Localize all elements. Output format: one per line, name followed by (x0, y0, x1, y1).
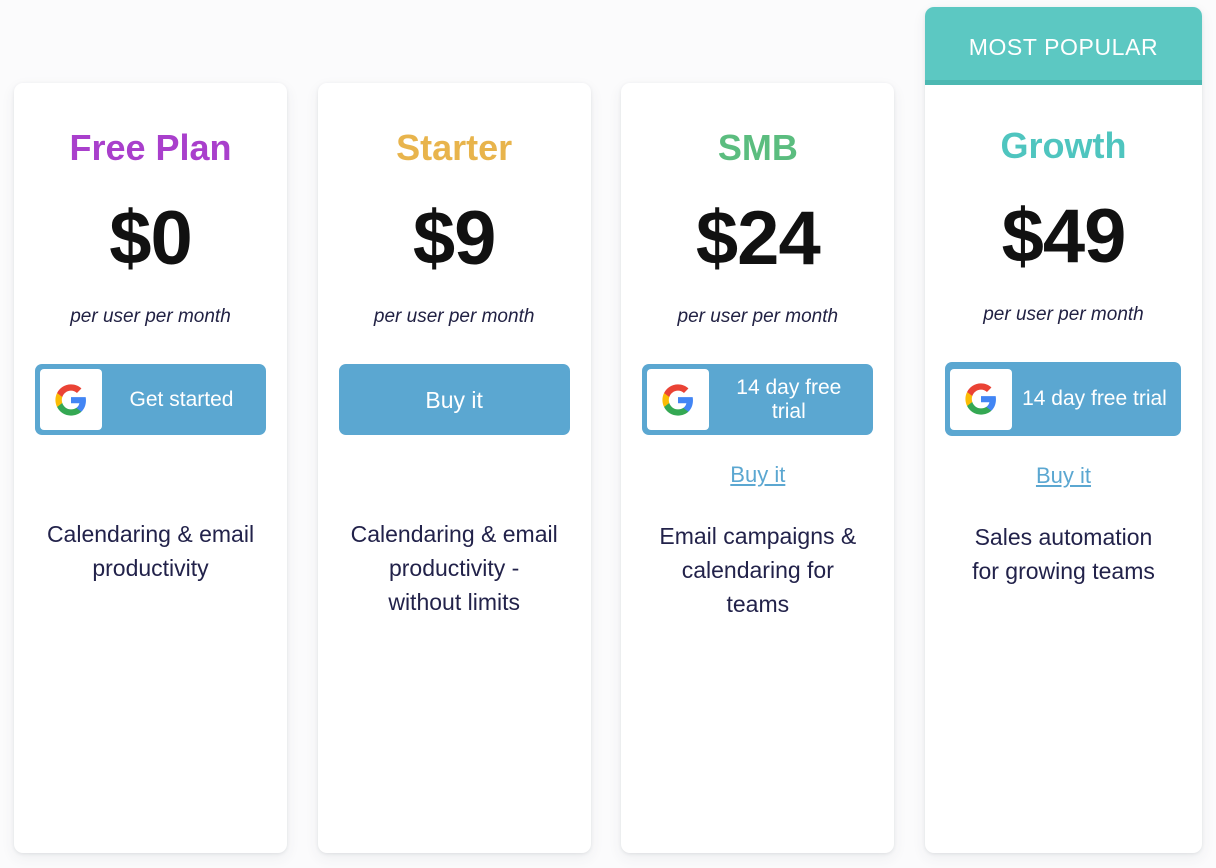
get-started-button[interactable]: Get started (35, 364, 266, 435)
most-popular-badge: MOST POPULAR (925, 7, 1202, 85)
plan-description: Email campaigns & calendaring for teams (628, 520, 888, 621)
buy-it-link[interactable]: Buy it (1036, 463, 1091, 489)
pricing-card-starter: Starter $9 per user per month Buy it Cal… (318, 83, 591, 853)
plan-price-note: per user per month (678, 306, 839, 328)
plan-price: $9 (413, 201, 496, 277)
plan-price: $0 (109, 201, 192, 277)
buy-it-button[interactable]: Buy it (339, 364, 570, 435)
cta-label: 14 day free trial (709, 376, 868, 424)
google-icon (647, 369, 709, 430)
cta-label: 14 day free trial (1012, 387, 1176, 411)
free-trial-button[interactable]: 14 day free trial (642, 364, 873, 435)
featured-card-body: Growth $49 per user per month 14 day fre… (925, 85, 1202, 853)
buy-it-link[interactable]: Buy it (730, 462, 785, 488)
pricing-plans-grid: Free Plan $0 per user per month Get star… (0, 0, 1216, 868)
google-icon (950, 369, 1012, 430)
cta-label: Get started (102, 388, 261, 412)
free-trial-button[interactable]: 14 day free trial (945, 362, 1181, 436)
pricing-card-free-plan: Free Plan $0 per user per month Get star… (14, 83, 287, 853)
plan-price-note: per user per month (374, 306, 535, 328)
plan-title: Free Plan (69, 127, 231, 168)
pricing-card-growth: MOST POPULAR Growth $49 per user per mon… (925, 7, 1202, 853)
cta-label: Buy it (339, 387, 570, 413)
plan-price: $49 (1002, 199, 1126, 275)
google-icon (40, 369, 102, 430)
plan-price: $24 (696, 201, 820, 277)
plan-price-note: per user per month (983, 304, 1144, 326)
plan-description: Calendaring & email productivity - witho… (324, 518, 584, 619)
plan-price-note: per user per month (70, 306, 231, 328)
plan-description: Calendaring & email productivity (21, 518, 281, 585)
plan-description: Sales automation for growing teams (933, 521, 1193, 588)
plan-title: SMB (718, 127, 798, 168)
plan-title: Growth (1000, 125, 1126, 166)
pricing-card-smb: SMB $24 per user per month 14 day free t… (621, 83, 894, 853)
plan-title: Starter (396, 127, 512, 168)
